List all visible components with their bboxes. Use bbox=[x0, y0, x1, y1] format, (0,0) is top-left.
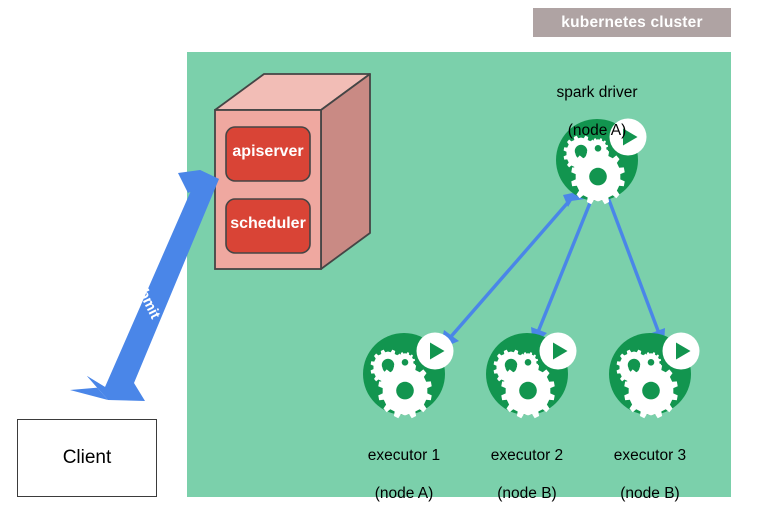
executor-2-label-line2: (node B) bbox=[467, 484, 587, 503]
kubernetes-cluster-banner: kubernetes cluster bbox=[533, 8, 731, 37]
executor-1-label-line2: (node A) bbox=[344, 484, 464, 503]
diagram-canvas: kubernetes cluster apiserver scheduler s… bbox=[0, 0, 761, 516]
apiserver-label: apiserver bbox=[226, 143, 310, 161]
kubernetes-cluster-label: kubernetes cluster bbox=[561, 14, 702, 32]
spark-driver-label-line1: spark driver bbox=[527, 83, 667, 102]
executor-1-label-line1: executor 1 bbox=[344, 446, 464, 465]
executor-3-label-line1: executor 3 bbox=[590, 446, 710, 465]
executor-2-label-line1: executor 2 bbox=[467, 446, 587, 465]
client-label: Client bbox=[63, 447, 112, 469]
scheduler-label: scheduler bbox=[226, 215, 310, 233]
executor-3-label: executor 3 (node B) bbox=[590, 427, 710, 522]
spark-driver-label-line2: (node A) bbox=[527, 121, 667, 140]
control-plane-cube bbox=[215, 74, 370, 269]
client-box[interactable]: Client bbox=[17, 419, 157, 497]
executor-2-label: executor 2 (node B) bbox=[467, 427, 587, 522]
executor-3-label-line2: (node B) bbox=[590, 484, 710, 503]
spark-driver-label: spark driver (node A) bbox=[527, 64, 667, 159]
executor-1-label: executor 1 (node A) bbox=[344, 427, 464, 522]
